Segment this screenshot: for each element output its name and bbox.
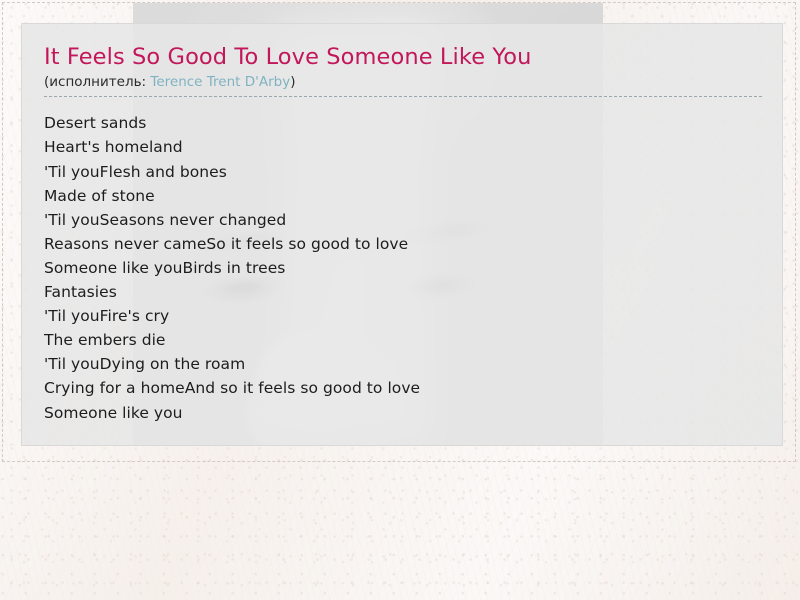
lyric-line: Desert sands xyxy=(44,111,762,135)
artist-line: (исполнитель: Terence Trent D'Arby) xyxy=(44,74,762,97)
lyric-line: Reasons never cameSo it feels so good to… xyxy=(44,232,762,256)
artist-suffix-label: ) xyxy=(290,74,295,90)
lyric-line: The embers die xyxy=(44,328,762,352)
artist-link[interactable]: Terence Trent D'Arby xyxy=(150,74,290,90)
panel-inner: It Feels So Good To Love Someone Like Yo… xyxy=(22,24,782,425)
lyrics-panel: It Feels So Good To Love Someone Like Yo… xyxy=(21,23,783,446)
lyric-line: 'Til youFlesh and bones xyxy=(44,160,762,184)
lyric-line: Someone like youBirds in trees xyxy=(44,256,762,280)
lyric-line: 'Til youFire's cry xyxy=(44,304,762,328)
content-container: It Feels So Good To Love Someone Like Yo… xyxy=(2,2,796,462)
lyric-line: Fantasies xyxy=(44,280,762,304)
lyric-line: Someone like you xyxy=(44,401,762,425)
lyric-line: 'Til youSeasons never changed xyxy=(44,208,762,232)
lyric-line: Heart's homeland xyxy=(44,135,762,159)
lyric-line: Made of stone xyxy=(44,184,762,208)
lyric-line: 'Til youDying on the roam xyxy=(44,352,762,376)
page-title: It Feels So Good To Love Someone Like Yo… xyxy=(44,45,762,70)
artist-prefix-label: (исполнитель: xyxy=(44,74,150,90)
lyric-line: Crying for a homeAnd so it feels so good… xyxy=(44,376,762,400)
lyrics-body: Desert sands Heart's homeland 'Til youFl… xyxy=(44,111,762,424)
